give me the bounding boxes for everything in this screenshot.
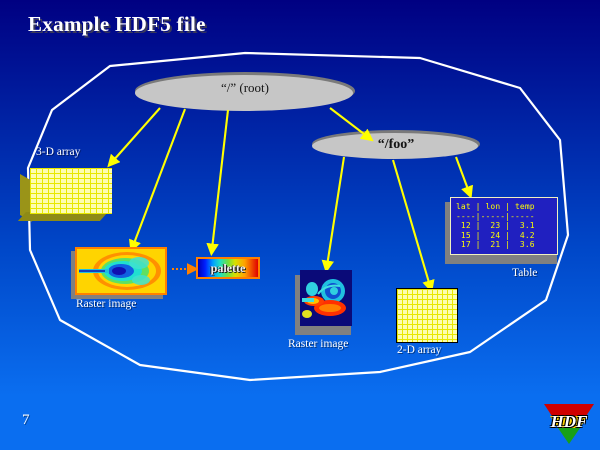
arrow-root-to-palette [212,110,228,249]
two-d-array-caption: 2-D array [397,344,441,356]
table-frame: lat | lon | temp ----|-----|----- 12 | 2… [450,197,558,255]
arrow-foo-to-2d-array [393,160,430,286]
slide-canvas: Example HDF5 file “/” (root) “/foo” 3-D … [0,0,600,450]
three-d-array-front-face [30,168,112,214]
palette-object[interactable]: palette [196,257,260,279]
table-caption: Table [512,267,537,279]
table-text: lat | lon | temp ----|-----|----- 12 | 2… [456,202,552,250]
raster-image-two-object[interactable] [300,270,356,330]
foo-node-label: “/foo” [312,137,480,153]
palette-label: palette [198,261,258,276]
two-d-array-object[interactable] [396,288,458,343]
vortex-visualization-icon [300,270,352,326]
page-title: Example HDF5 file [28,12,206,37]
raster-image-one-caption: Raster image [76,298,136,310]
arrow-root-to-3d-array [112,108,160,162]
table-object[interactable]: lat | lon | temp ----|-----|----- 12 | 2… [450,197,562,259]
raster-image-one-frame [75,247,167,295]
three-d-array-caption: 3-D array [36,146,80,158]
raster-image-two-frame [300,270,352,326]
page-number: 7 [22,412,30,429]
raster-image-two-caption: Raster image [288,338,348,350]
root-node-label: “/” (root) [135,80,355,96]
arrow-foo-to-raster2 [327,157,344,266]
arrow-foo-to-table [456,157,469,192]
hdf-logo[interactable]: HDF [544,404,594,444]
hdf-logo-text: HDF [544,412,594,432]
raster-image-one-object[interactable] [75,247,167,295]
three-d-array-object[interactable] [20,168,115,221]
plume-visualization-icon [77,249,165,293]
